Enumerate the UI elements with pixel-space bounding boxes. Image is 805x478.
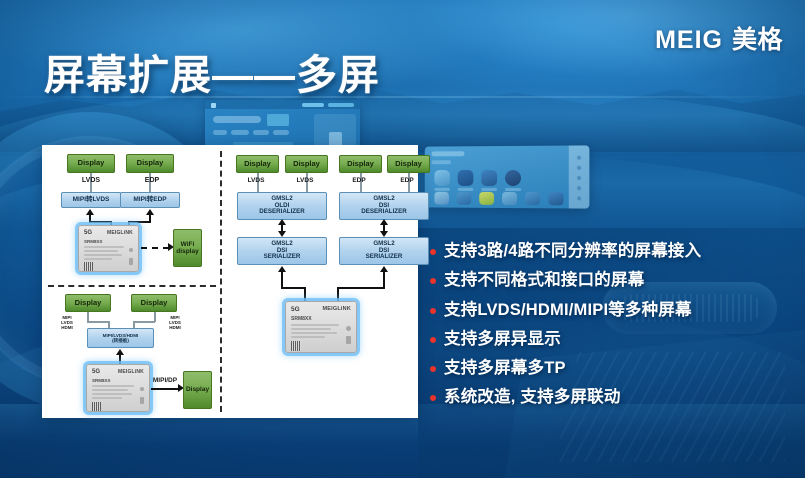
display-box: Display xyxy=(236,155,279,173)
module-5g-tag: 5G xyxy=(84,230,92,236)
module-5g-meiglink: 5G MEIGLiNK SRM8XX xyxy=(285,301,357,353)
bullet-dot-icon xyxy=(430,308,436,314)
display-box: Display xyxy=(126,154,174,173)
connector-line xyxy=(108,321,110,328)
vertical-divider xyxy=(220,151,222,412)
module-model: SRM8XX xyxy=(92,378,111,383)
connector-line xyxy=(133,321,135,328)
list-item: 支持不同格式和接口的屏幕 xyxy=(430,269,800,291)
bus-line xyxy=(128,221,150,223)
list-item: 支持多屏幕多TP xyxy=(430,357,800,379)
link-label-mipi-lvds-hdmi: MIPI LVDS HDMI xyxy=(54,315,80,331)
arrow-icon xyxy=(380,219,388,225)
wifi-display-box: WiFi display xyxy=(173,229,202,267)
module-5g-tag: 5G xyxy=(291,306,300,313)
link-label-edp: EDP xyxy=(391,177,423,184)
converter-board-box: MIPI/LVDS/HDMI (转接板) xyxy=(87,328,154,348)
bus-line xyxy=(281,287,305,289)
link-label-lvds: LVDS xyxy=(240,177,272,184)
display-box: Display xyxy=(285,155,328,173)
feature-text: 系统改造, 支持多屏联动 xyxy=(444,386,621,408)
bus-line xyxy=(151,388,179,390)
module-model: SRM8XX xyxy=(84,239,103,244)
bus-line xyxy=(337,287,384,289)
link-label-edp: EDP xyxy=(343,177,375,184)
feature-list: 支持3路/4路不同分辨率的屏幕接入 支持不同格式和接口的屏幕 支持LVDS/HD… xyxy=(430,240,800,416)
bullet-dot-icon xyxy=(430,366,436,372)
module-brand: MEIGLiNK xyxy=(323,306,352,312)
display-box: Display xyxy=(67,154,115,173)
bullet-dot-icon xyxy=(430,395,436,401)
display-box: Display xyxy=(131,294,177,312)
link-label-lvds: LVDS xyxy=(73,177,109,185)
arrow-icon xyxy=(86,209,94,215)
link-label-lvds: LVDS xyxy=(289,177,321,184)
connector-line xyxy=(87,321,109,323)
display-box: Display xyxy=(339,155,382,173)
bullet-dot-icon xyxy=(430,337,436,343)
converter-box-mipi-to-edp: MIPI转EDP xyxy=(120,192,180,208)
module-brand: MEIGLiNK xyxy=(107,230,133,236)
list-item: 支持LVDS/HDMI/MIPI等多种屏幕 xyxy=(430,299,800,321)
deserializer-box-oldi: GMSL2 OLDI DESERIALIZER xyxy=(237,192,327,220)
feature-text: 支持LVDS/HDMI/MIPI等多种屏幕 xyxy=(444,299,692,321)
list-item: 支持3路/4路不同分辨率的屏幕接入 xyxy=(430,240,800,262)
bus-line xyxy=(89,221,111,223)
feature-text: 支持多屏幕多TP xyxy=(444,357,566,379)
page-title: 屏幕扩展——多屏 xyxy=(44,41,380,101)
wireless-link-line xyxy=(141,247,169,249)
module-5g-meiglink: 5G MEIGLiNK SRM8XX xyxy=(78,225,139,272)
bullet-dot-icon xyxy=(430,278,436,284)
arrow-icon xyxy=(278,266,286,272)
arrow-icon xyxy=(146,209,154,215)
list-item: 支持多屏异显示 xyxy=(430,328,800,350)
feature-text: 支持多屏异显示 xyxy=(444,328,561,350)
feature-text: 支持3路/4路不同分辨率的屏幕接入 xyxy=(444,240,701,262)
display-box: Display xyxy=(387,155,430,173)
list-item: 系统改造, 支持多屏联动 xyxy=(430,386,800,408)
link-label-mipi-dp: MIPI/DP xyxy=(148,377,182,384)
meig-logo: MEIG 美格 xyxy=(655,20,783,56)
link-label-edp: EDP xyxy=(134,177,170,185)
connector-line xyxy=(133,321,155,323)
logo-text-en: MEIG xyxy=(655,26,723,55)
deserializer-box-dsi: GMSL2 DSI DESERIALIZER xyxy=(339,192,429,220)
module-model: SRM8XX xyxy=(291,316,312,322)
horizontal-divider xyxy=(48,285,216,287)
module-brand: MEIGLiNK xyxy=(118,369,144,375)
arrow-icon xyxy=(116,349,124,355)
converter-box-mipi-to-lvds: MIPI转LVDS xyxy=(61,192,121,208)
serializer-box-dsi: GMSL2 DSI SERIALIZER xyxy=(237,237,327,265)
arrow-icon xyxy=(278,219,286,225)
link-label-mipi-lvds-hdmi: MIPI LVDS HDMI xyxy=(162,315,188,331)
display-box: Display xyxy=(65,294,111,312)
architecture-diagram-panel: Display Display LVDS EDP MIPI转LVDS MIPI转… xyxy=(42,145,418,418)
feature-text: 支持不同格式和接口的屏幕 xyxy=(444,269,644,291)
arrow-icon xyxy=(380,266,388,272)
module-5g-meiglink: 5G MEIGLiNK SRM8XX xyxy=(86,364,150,412)
module-5g-tag: 5G xyxy=(92,369,100,375)
bullet-dot-icon xyxy=(430,249,436,255)
serializer-box-dsi: GMSL2 DSI SERIALIZER xyxy=(339,237,429,265)
display-box-output: Display xyxy=(183,371,212,409)
logo-text-cn: 美格 xyxy=(732,20,783,56)
